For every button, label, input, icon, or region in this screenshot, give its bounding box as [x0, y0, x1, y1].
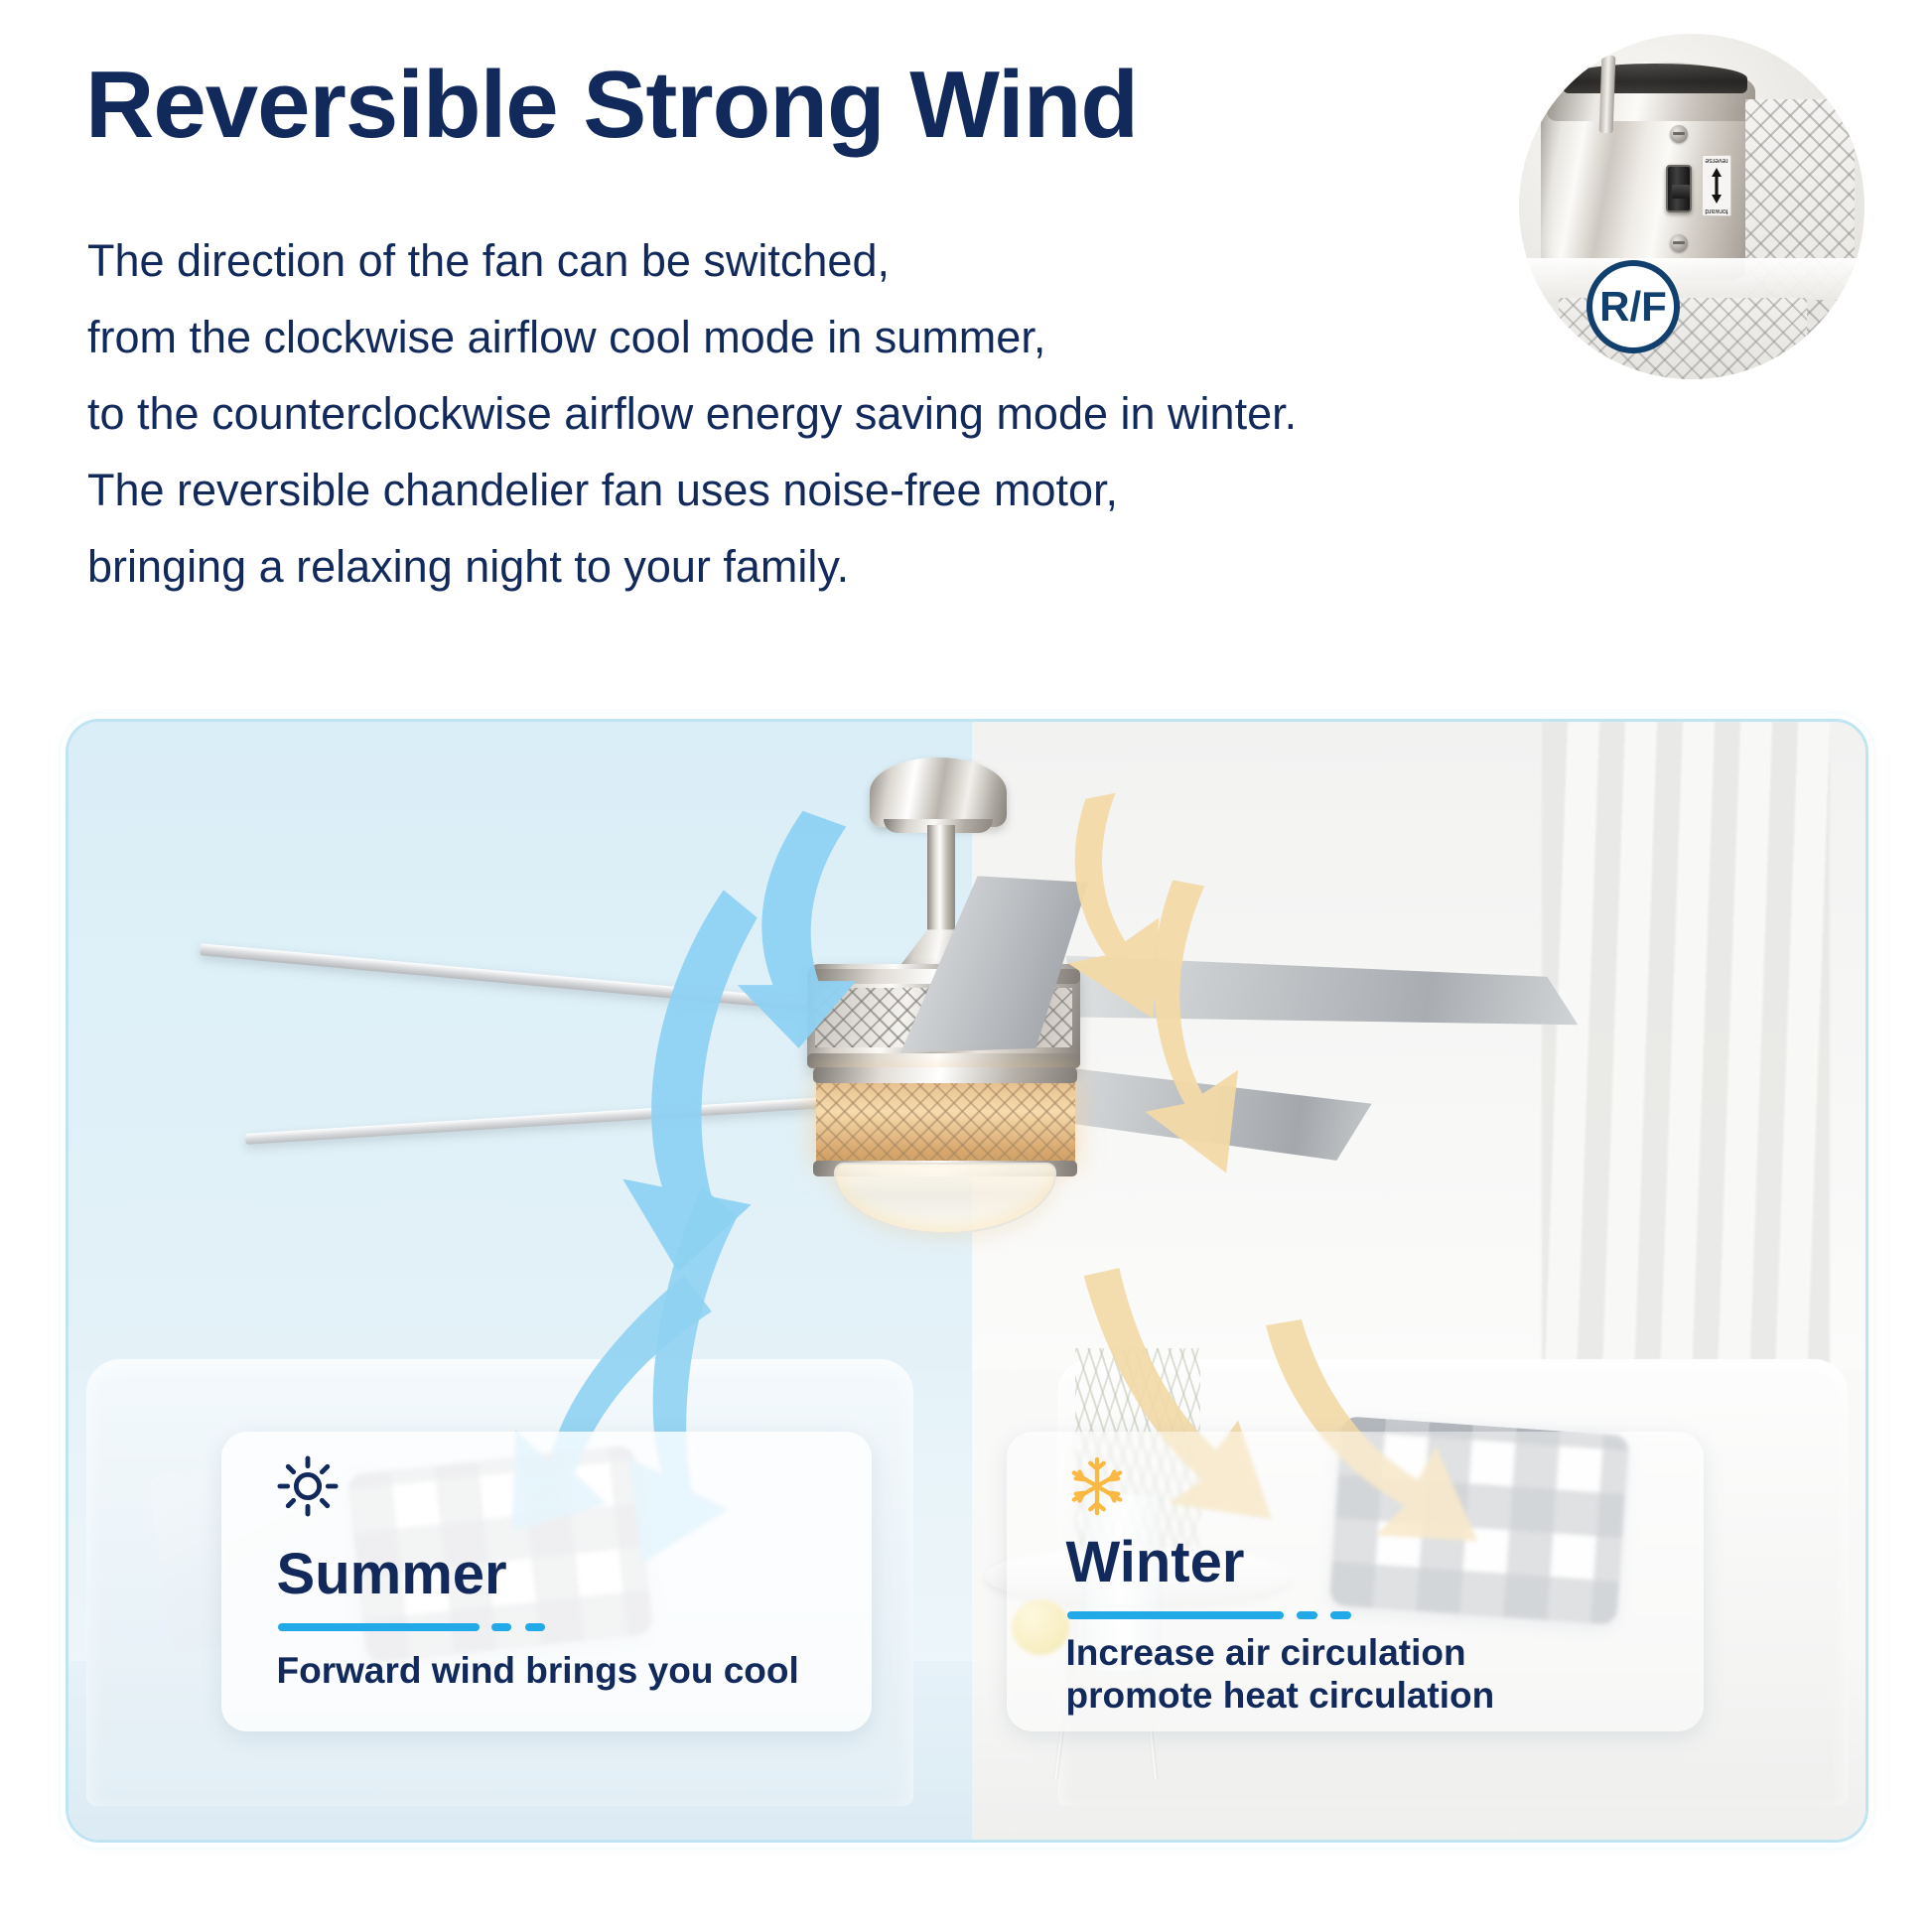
motor-dark-band: [1563, 64, 1747, 93]
reverse-switch-photo: reverse forward: [1519, 34, 1864, 379]
winter-title: Winter: [1066, 1534, 1245, 1591]
description-line: The direction of the fan can be switched…: [87, 238, 1358, 283]
up-down-arrow-icon: [1709, 166, 1725, 206]
light-band: [813, 1067, 1077, 1083]
glass-globe: [834, 1163, 1056, 1234]
fan-blade: [1066, 950, 1579, 1046]
infographic-page: Reversible Strong Wind The direction of …: [0, 0, 1932, 1932]
motor-seam: [1599, 56, 1616, 133]
fan-blade: [245, 1093, 892, 1145]
fan-blade: [1035, 1064, 1386, 1170]
winter-subtitle: Increase air circulation promote heat ci…: [1066, 1632, 1495, 1717]
description-line: bringing a relaxing night to your family…: [87, 544, 1358, 589]
ceiling-mount: [870, 758, 1007, 827]
summer-divider: [278, 1623, 480, 1631]
product-scene-panel: Summer Forward wind brings you cool Wint…: [66, 719, 1868, 1843]
housing-ring: [807, 1053, 1080, 1068]
summer-title: Summer: [277, 1546, 507, 1603]
sun-icon: [277, 1455, 339, 1517]
page-title: Reversible Strong Wind: [85, 56, 1138, 156]
direction-label: reverse forward: [1702, 155, 1731, 216]
downrod: [927, 825, 955, 932]
reverse-toggle-switch[interactable]: [1666, 165, 1692, 212]
fan-blade: [201, 943, 864, 1015]
description-line: to the counterclockwise airflow energy s…: [87, 391, 1358, 436]
winter-divider: [1067, 1611, 1284, 1619]
light-mesh-cage: [816, 1073, 1075, 1170]
status-badge: R/F: [1587, 260, 1680, 353]
snowflake-icon: [1066, 1455, 1128, 1517]
direction-label-reverse: reverse: [1703, 157, 1730, 164]
winter-card: Winter Increase air circulation promote …: [1007, 1432, 1704, 1731]
summer-card: Summer Forward wind brings you cool: [221, 1432, 872, 1731]
description-line: The reversible chandelier fan uses noise…: [87, 468, 1358, 512]
light-shade-bar: [1519, 258, 1864, 300]
screw-icon: [1670, 234, 1688, 252]
summer-subtitle: Forward wind brings you cool: [277, 1650, 799, 1693]
screw-icon: [1670, 125, 1688, 143]
description-line: from the clockwise airflow cool mode in …: [87, 315, 1358, 359]
direction-label-forward: forward: [1703, 207, 1730, 214]
description-block: The direction of the fan can be switched…: [87, 238, 1358, 621]
